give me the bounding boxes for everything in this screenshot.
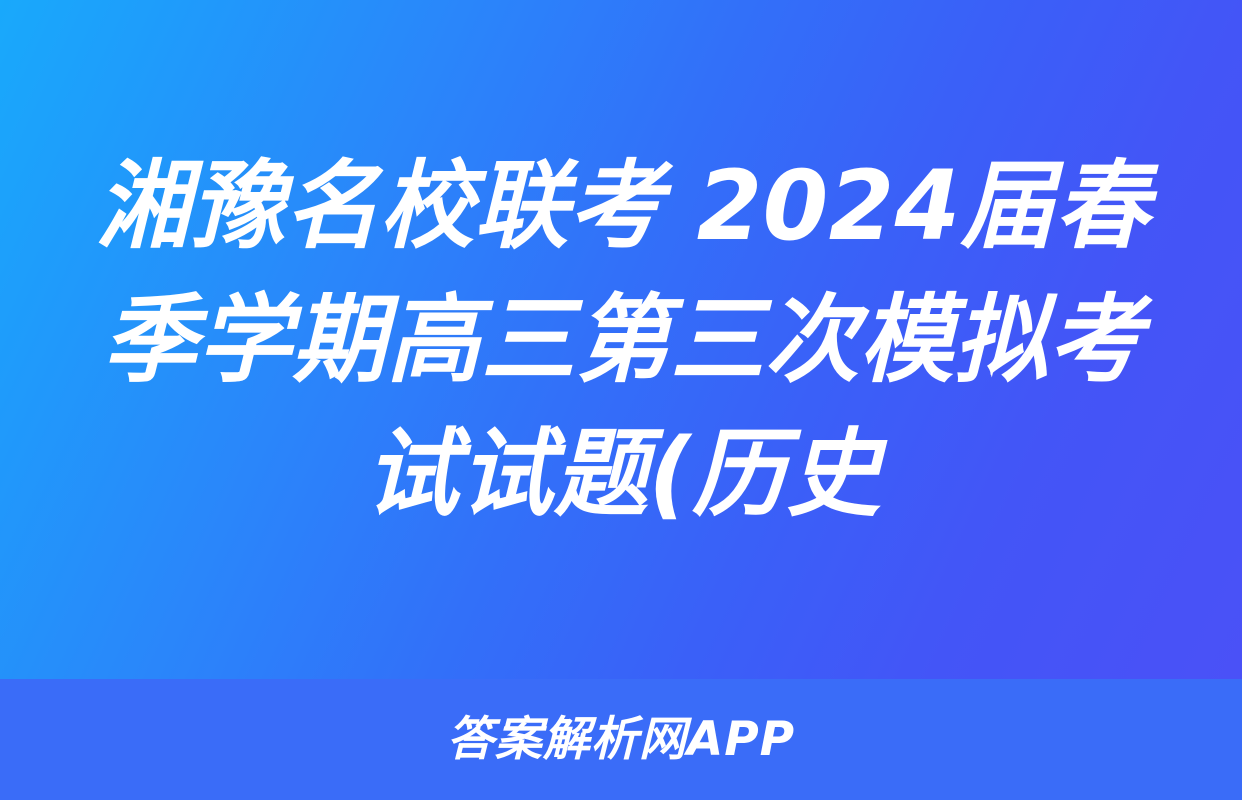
watermark-banner: 答案解析网APP [0,679,1242,800]
title-card-screen: 湘豫名校联考 2024届春季学期高三第三次模拟考试试题(历史 答案解析网APP [0,0,1242,800]
watermark-brand-label: 答案解析网APP [447,713,795,767]
page-title: 湘豫名校联考 2024届春季学期高三第三次模拟考试试题(历史 [85,139,1157,541]
hero-gradient-panel: 湘豫名校联考 2024届春季学期高三第三次模拟考试试题(历史 [0,0,1242,679]
